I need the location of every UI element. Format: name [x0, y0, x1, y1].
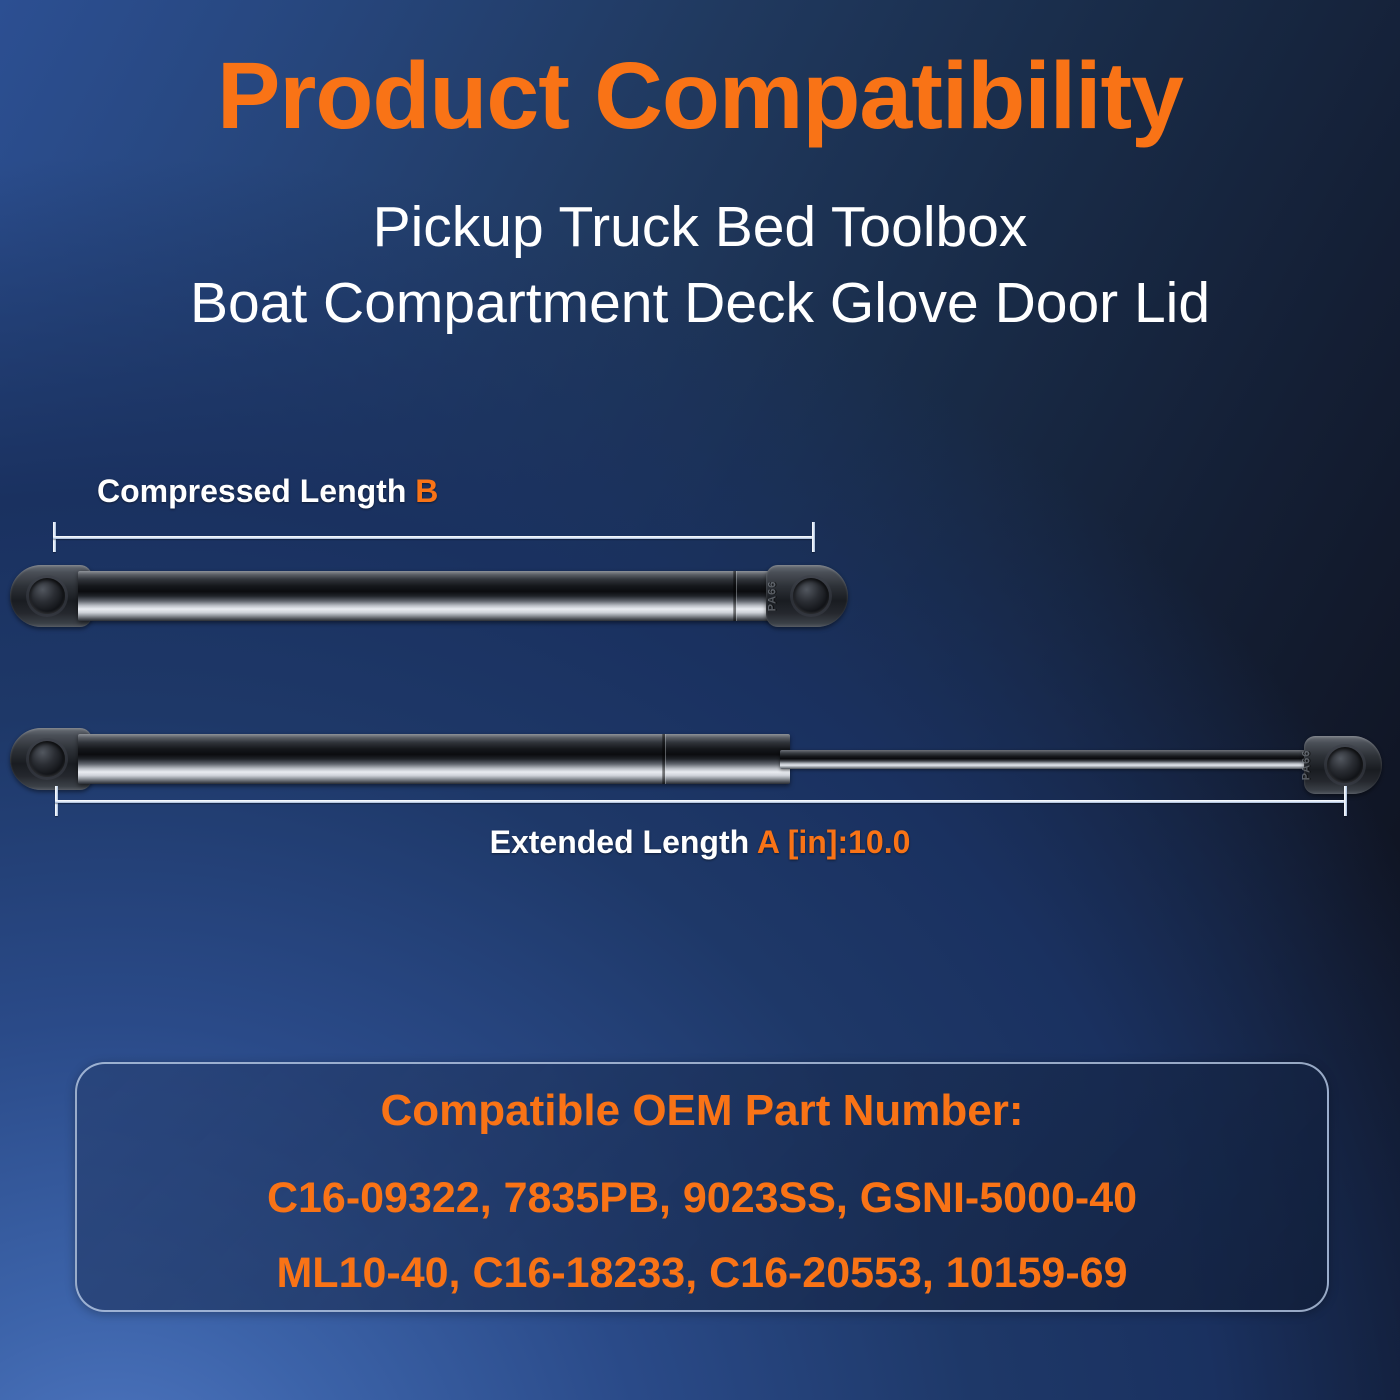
extended-dimension-bar	[55, 786, 1347, 816]
subtitle-line-1: Pickup Truck Bed Toolbox	[0, 190, 1400, 266]
extended-length-label-text: Extended Length	[490, 824, 757, 860]
compressed-dimension-bar	[53, 522, 815, 552]
oem-box-title: Compatible OEM Part Number:	[77, 1086, 1327, 1136]
eyelet-bore-icon	[1327, 747, 1363, 783]
dimension-tick-right-icon	[1344, 786, 1347, 816]
pa66-marking: PA66	[1301, 750, 1313, 781]
dimension-tick-right-icon	[812, 522, 815, 552]
cylinder-seam-icon	[663, 734, 665, 784]
strut-end-fitting-right: PA66	[766, 565, 848, 627]
dimension-rule-icon	[53, 536, 815, 539]
oem-part-number-box: Compatible OEM Part Number: C16-09322, 7…	[75, 1062, 1329, 1312]
compressed-length-label: Compressed Length B	[97, 473, 438, 510]
oem-part-numbers-line-2: ML10-40, C16-18233, C16-20553, 10159-69	[77, 1249, 1327, 1298]
strut-piston-rod	[780, 750, 1325, 769]
strut-cylinder-body	[78, 571, 780, 621]
cylinder-seam-icon	[734, 571, 736, 621]
eyelet-bore-icon	[29, 578, 65, 614]
subtitle-line-2: Boat Compartment Deck Glove Door Lid	[0, 266, 1400, 342]
eyelet-bore-icon	[793, 578, 829, 614]
dimension-rule-icon	[55, 800, 1347, 803]
gas-strut-compressed: PA66 PA66	[10, 565, 848, 627]
pa66-marking: PA66	[767, 581, 779, 612]
eyelet-bore-icon	[29, 741, 65, 777]
product-compatibility-poster: Product Compatibility Pickup Truck Bed T…	[0, 0, 1400, 1400]
oem-part-numbers-line-1: C16-09322, 7835PB, 9023SS, GSNI-5000-40	[77, 1174, 1327, 1223]
page-subtitle: Pickup Truck Bed Toolbox Boat Compartmen…	[0, 190, 1400, 342]
strut-cylinder-body	[78, 734, 790, 784]
compressed-length-label-text: Compressed Length	[97, 473, 415, 509]
page-title: Product Compatibility	[0, 47, 1400, 147]
extended-length-label: Extended Length A [in]:10.0	[0, 824, 1400, 861]
compressed-length-letter: B	[415, 473, 438, 509]
extended-length-value: A [in]:10.0	[757, 824, 911, 860]
